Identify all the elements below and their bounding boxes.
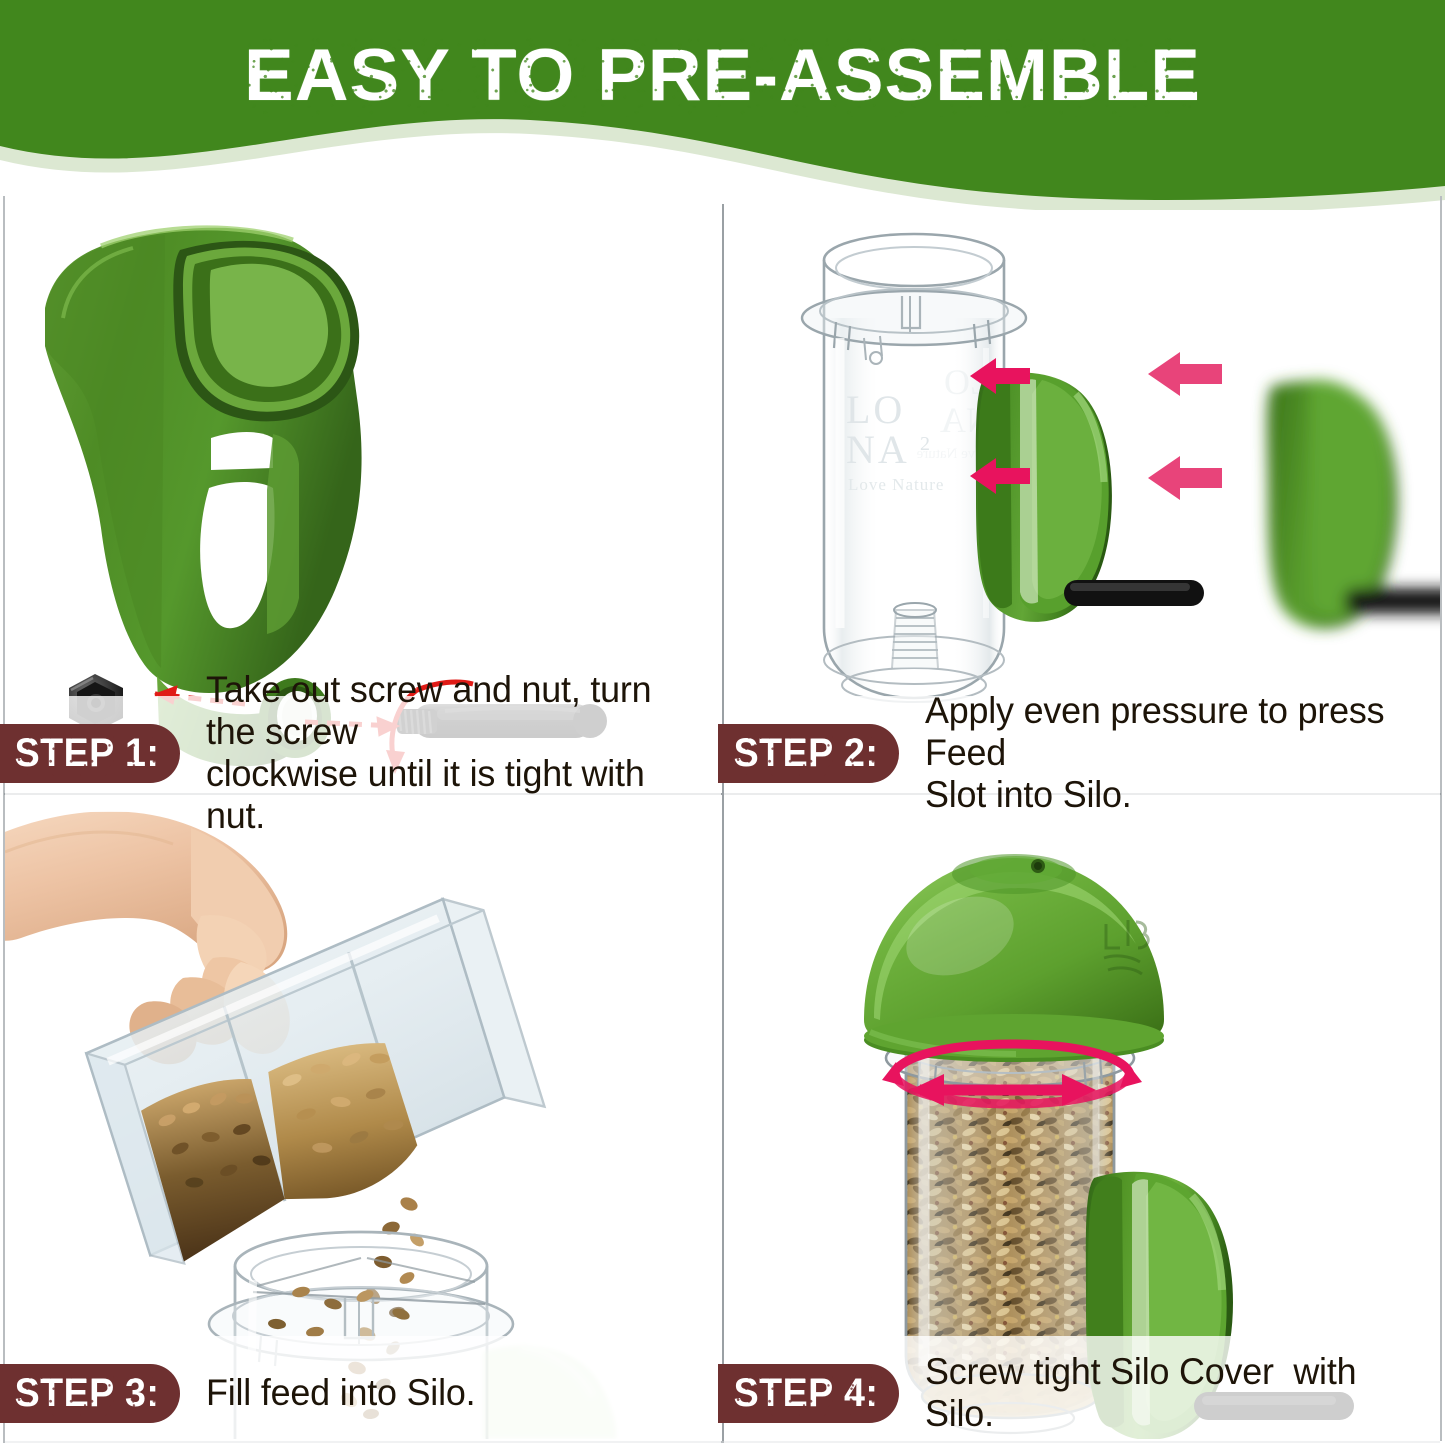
- svg-text:NA: NA: [846, 427, 910, 472]
- svg-text:Love Nature: Love Nature: [848, 475, 944, 494]
- header-banner: EASY TO PRE-ASSEMBLE: [0, 0, 1445, 210]
- clear-seed-container: [71, 888, 561, 1274]
- step-4-badge-label: STEP 4:: [733, 1371, 878, 1416]
- silo-cover-dome: [864, 854, 1164, 1062]
- step-1-caption: STEP 1: Take out screw and nut, turn the…: [5, 712, 721, 794]
- step-1-description: Take out screw and nut, turn the screw c…: [206, 669, 706, 838]
- step-4-caption: STEP 4: Screw tight Silo Cover with Silo…: [724, 1352, 1440, 1434]
- step-3-badge: STEP 3:: [0, 1364, 180, 1423]
- page-title-text: EASY TO PRE-ASSEMBLE: [244, 34, 1201, 117]
- feed-slot-attached: [976, 372, 1204, 621]
- step-3-caption: STEP 3: Fill feed into Silo.: [5, 1352, 721, 1434]
- step-2-badge-label: STEP 2:: [733, 731, 878, 776]
- step-1-badge: STEP 1:: [0, 724, 180, 783]
- product-instruction-infographic: EASY TO PRE-ASSEMBLE: [0, 0, 1445, 1445]
- step-4-description: Screw tight Silo Cover with Silo.: [925, 1351, 1425, 1435]
- step-2-caption: STEP 2: Apply even pressure to press Fee…: [724, 712, 1440, 794]
- step-4-badge: STEP 4:: [718, 1364, 899, 1423]
- step-2-description: Apply even pressure to press Feed Slot i…: [925, 690, 1425, 817]
- frame-right-border: [1440, 196, 1442, 1441]
- svg-text:LO: LO: [846, 387, 905, 432]
- step-3-description: Fill feed into Silo.: [206, 1372, 475, 1414]
- step-1-badge-label: STEP 1:: [14, 731, 159, 776]
- step-3-badge-label: STEP 3:: [14, 1371, 159, 1416]
- step-2-badge: STEP 2:: [718, 724, 899, 783]
- page-title: EASY TO PRE-ASSEMBLE: [0, 34, 1445, 117]
- feed-slot-detached-blurred: [1267, 380, 1440, 629]
